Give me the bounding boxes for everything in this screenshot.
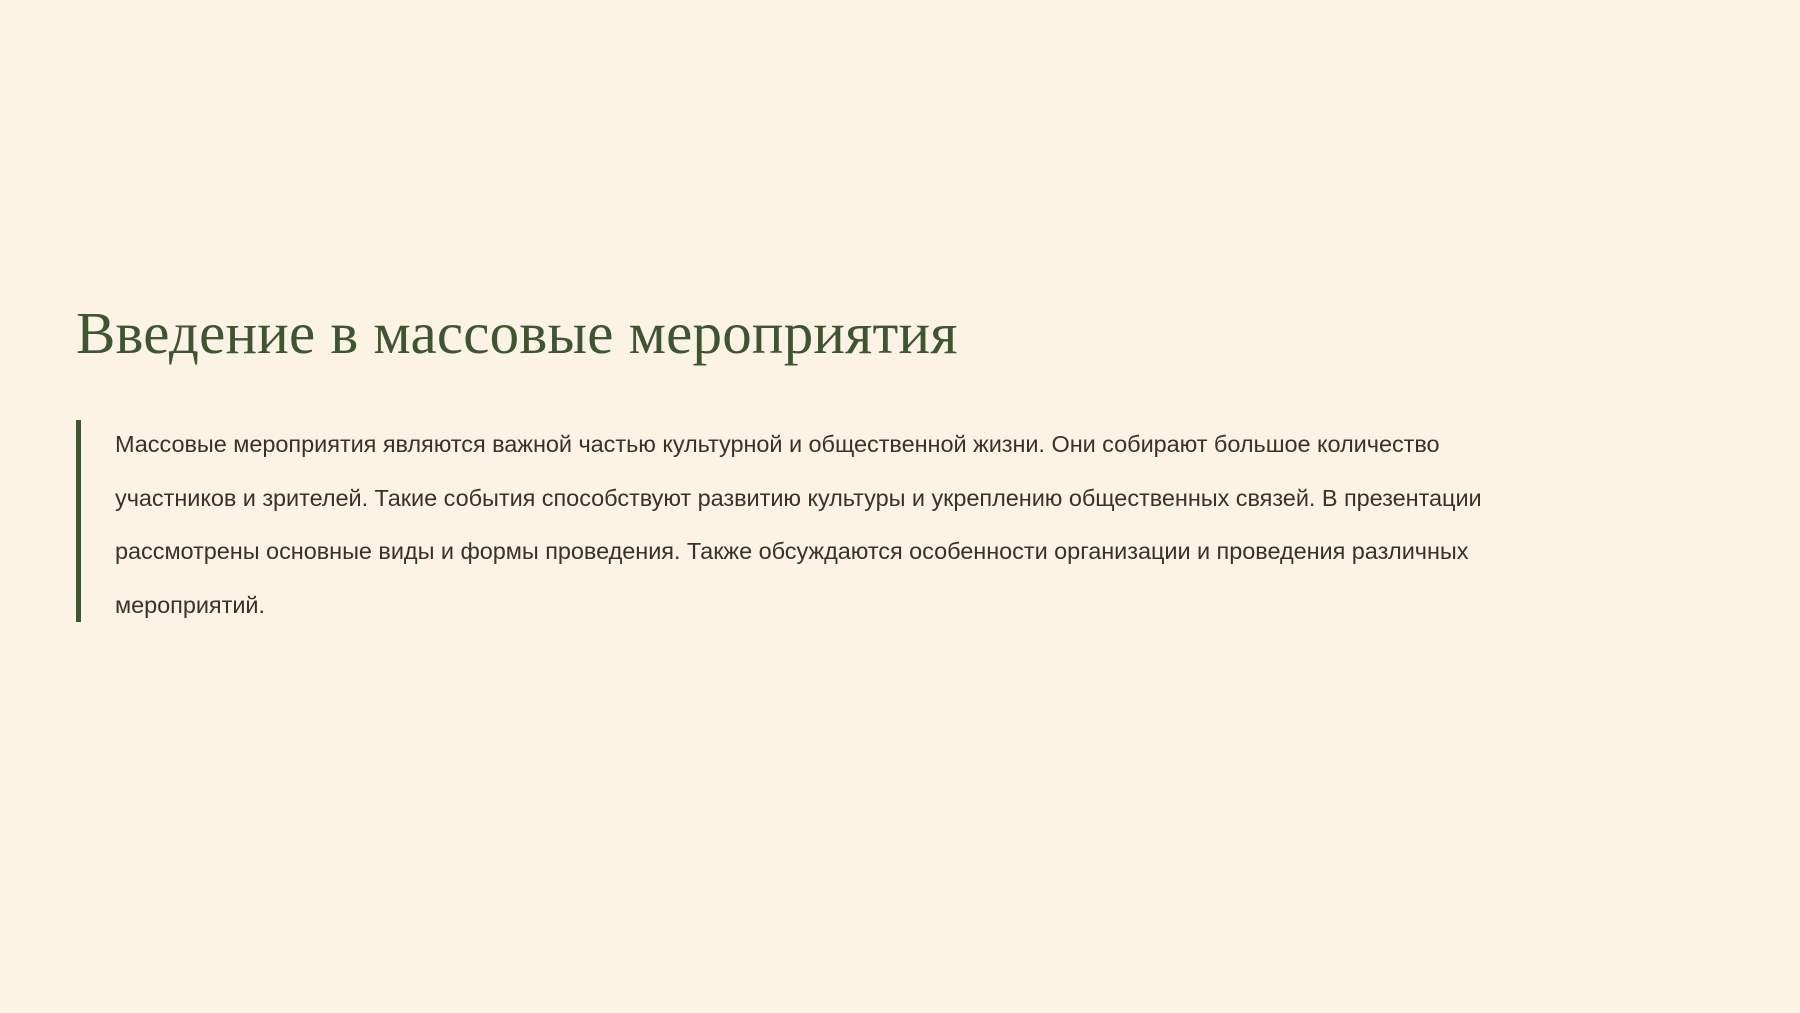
accent-bar: [76, 420, 81, 622]
body-quote-block: Массовые мероприятия являются важной час…: [76, 418, 1736, 632]
body-paragraph: Массовые мероприятия являются важной час…: [115, 418, 1520, 632]
slide-content: Введение в массовые мероприятия Массовые…: [76, 300, 1736, 632]
slide-canvas: Введение в массовые мероприятия Массовые…: [0, 0, 1800, 1013]
page-title: Введение в массовые мероприятия: [76, 300, 1736, 366]
